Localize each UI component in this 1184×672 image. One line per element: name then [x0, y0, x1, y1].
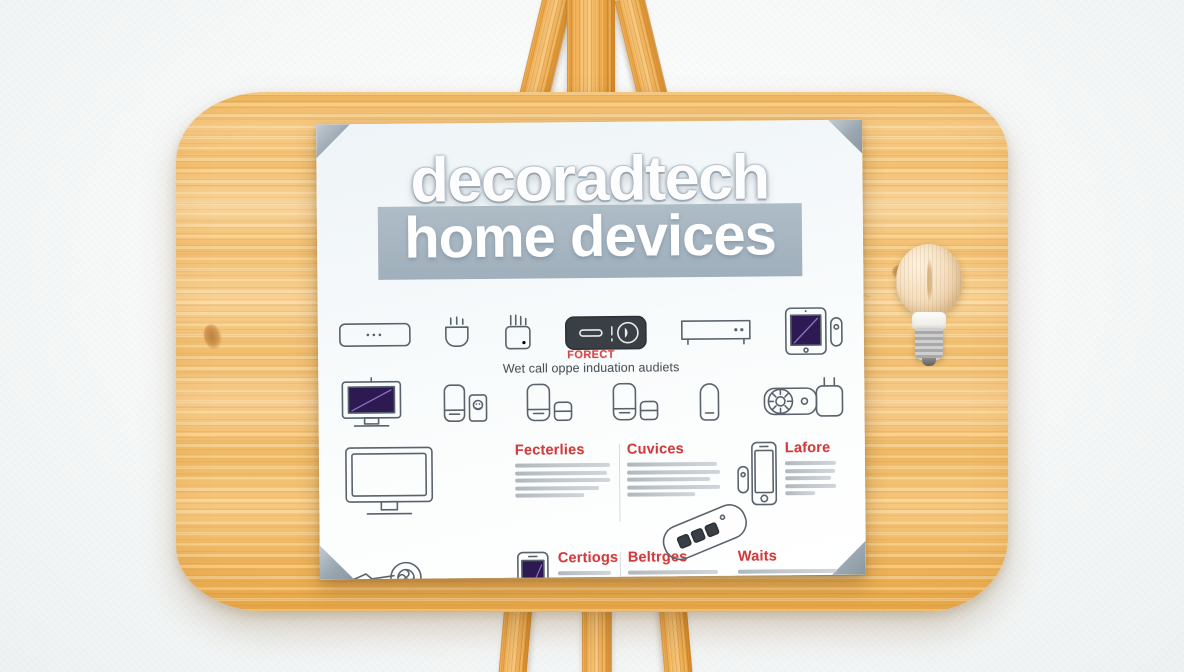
speaker-pair-alt-icon	[611, 381, 659, 421]
light-bulb	[896, 244, 962, 368]
block-certiogs: Certiogs	[510, 544, 623, 580]
block-tool-art	[338, 545, 511, 580]
block-monitor-art	[337, 437, 510, 532]
text-line	[515, 478, 610, 483]
block-heading: Fecterlies	[515, 442, 611, 459]
icon-row-2	[338, 372, 844, 432]
bulb-glass	[896, 244, 962, 316]
bulb-neck	[912, 312, 946, 329]
block-waits: Waits	[732, 542, 849, 580]
block-lafore: Lafore	[731, 434, 848, 529]
block-heading: Waits	[738, 548, 838, 565]
fan-adapter-icon	[760, 374, 844, 427]
block-heading: Lafore	[785, 440, 837, 456]
block-body-lines	[627, 462, 721, 497]
text-line	[785, 476, 831, 480]
poster: decoradtech home devices	[316, 120, 866, 580]
block-body-lines	[515, 463, 611, 498]
text-line	[738, 569, 837, 574]
text-line	[627, 469, 720, 474]
text-line	[785, 491, 815, 495]
media-player-icon	[678, 315, 754, 350]
block-heading: Certiogs	[558, 550, 612, 566]
block-fecterlies: Fecterlies	[509, 436, 622, 531]
text-line	[515, 485, 600, 490]
title-band: home devices	[378, 203, 802, 280]
title-line-2: home devices	[404, 205, 776, 269]
smart-cylinder-icon	[697, 379, 723, 423]
block-body-lines	[785, 461, 837, 495]
text-line	[627, 484, 720, 489]
text-line	[785, 461, 837, 465]
speaker-pair-icon	[525, 382, 573, 422]
smartphone-purple-icon	[516, 550, 551, 579]
text-line	[558, 571, 611, 575]
large-monitor-icon	[343, 443, 436, 522]
smart-plug-icon	[442, 316, 472, 352]
power-strip-icon	[502, 314, 534, 352]
text-line	[515, 470, 607, 475]
dark-speaker-hub-icon	[564, 313, 648, 354]
bulb-contact-tip	[922, 358, 936, 366]
speaker-controller-icon	[442, 383, 488, 423]
content-row-1: Fecterlies Cuvices	[337, 434, 848, 532]
set-top-box-icon	[338, 318, 412, 353]
poster-title: decoradtech home devices	[316, 146, 863, 281]
desktop-monitor-icon	[338, 376, 404, 433]
text-line	[515, 463, 610, 468]
text-line	[627, 462, 717, 467]
scene: decoradtech home devices	[0, 0, 1184, 672]
bulb-filament	[927, 258, 932, 302]
content-blocks: Fecterlies Cuvices	[337, 434, 849, 580]
text-line	[785, 483, 837, 487]
magnifier-fan-icon	[344, 551, 444, 579]
bulb-screw-base	[915, 328, 943, 360]
block-heading: Cuvices	[627, 441, 721, 458]
text-line	[515, 493, 584, 498]
wood-knot	[201, 322, 225, 352]
text-line	[785, 468, 835, 472]
smartphone-remote-icon	[737, 440, 778, 512]
content-row-2: Certiogs Beltrges	[338, 542, 849, 580]
center-note: FORECT Wet call oppe induation audiets	[318, 347, 864, 378]
text-line	[627, 492, 695, 497]
text-line	[627, 477, 710, 482]
